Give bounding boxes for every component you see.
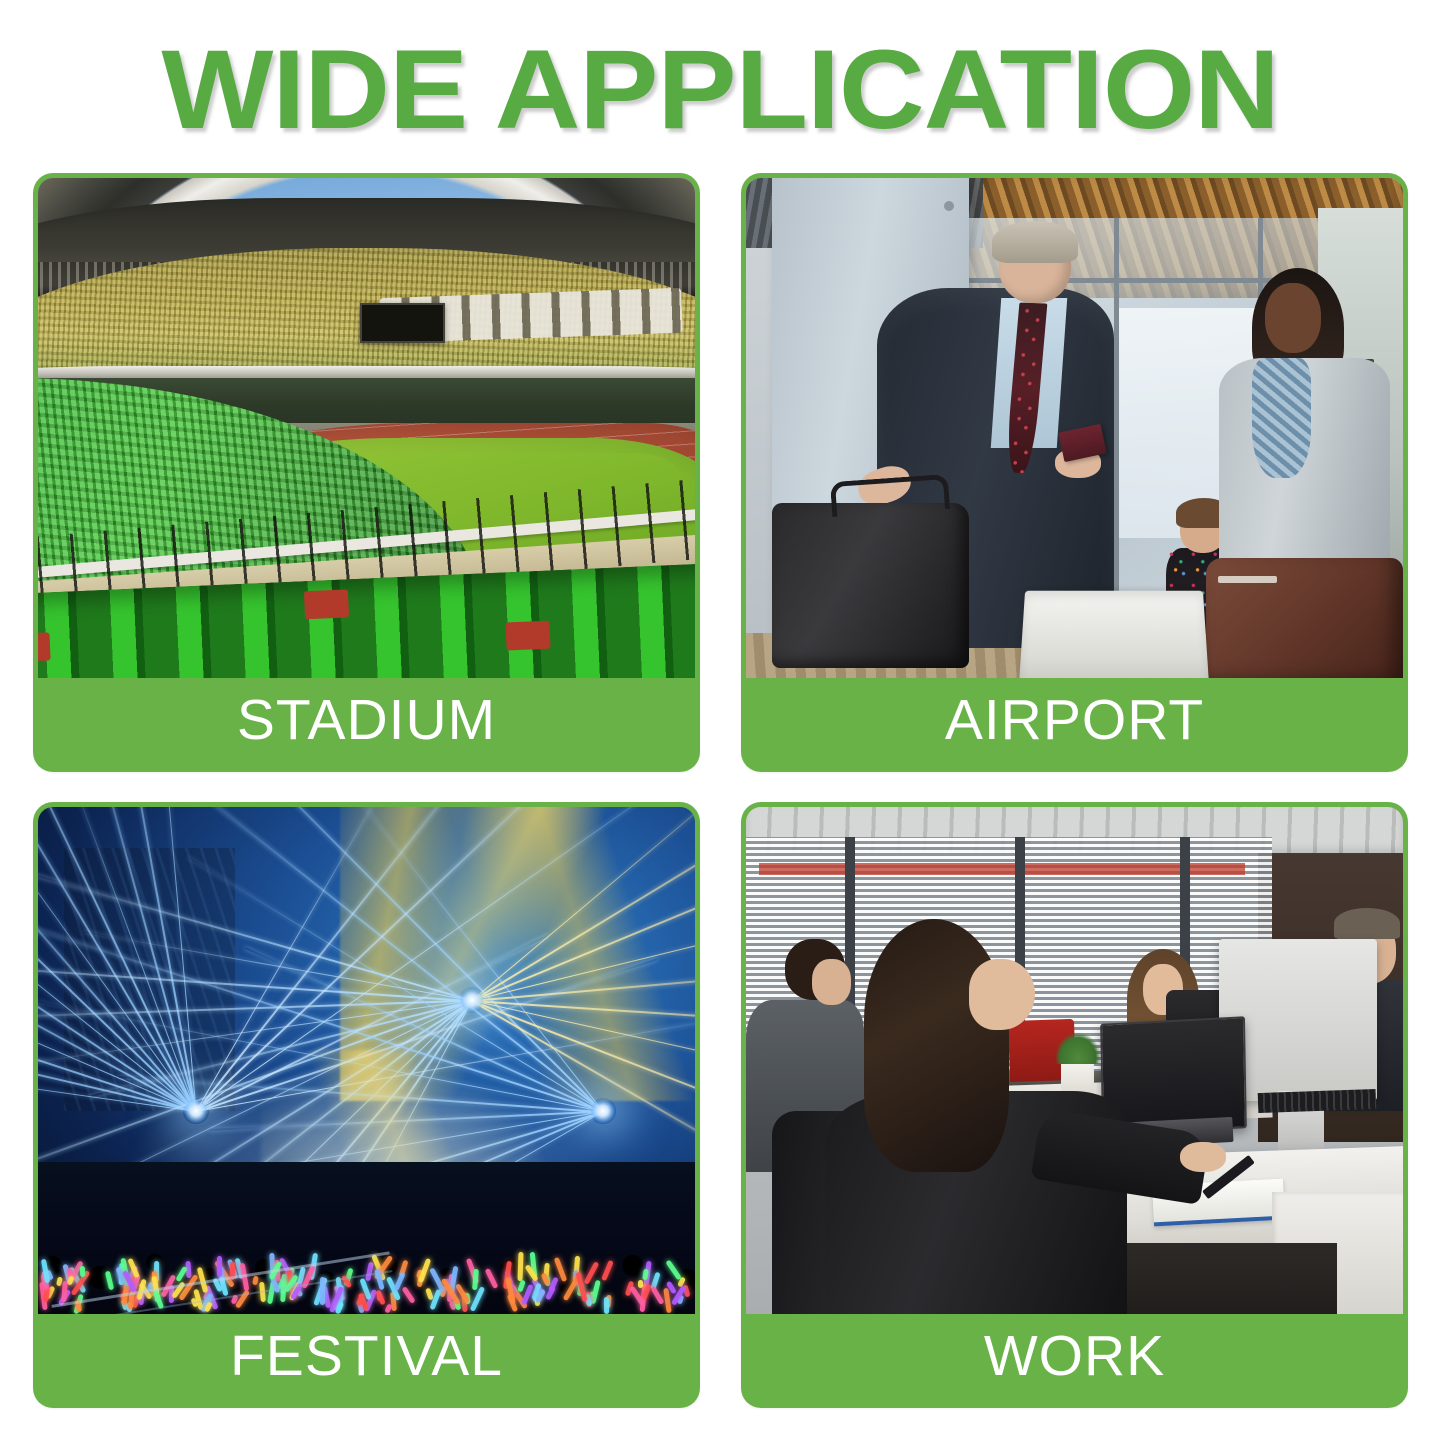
page-title-container: WIDE APPLICATION (0, 34, 1440, 146)
glow-stick (601, 1260, 614, 1281)
wide-application-infographic: WIDE APPLICATION (0, 0, 1440, 1440)
glow-stick (590, 1280, 601, 1304)
colleague-right-hair (1334, 908, 1400, 938)
airport-photo (746, 178, 1403, 678)
woman-face (1265, 283, 1321, 353)
application-card-festival[interactable]: FESTIVAL (33, 802, 700, 1408)
card-caption-airport: AIRPORT (746, 678, 1403, 767)
exterior-red-band (759, 863, 1245, 876)
work-photo (746, 807, 1403, 1314)
glow-stick (485, 1268, 499, 1289)
security-tray (1019, 591, 1210, 678)
card-caption-stadium: STADIUM (38, 678, 695, 767)
laser-source-right (590, 1098, 616, 1124)
foreground-woman-hand (1180, 1142, 1226, 1172)
keyboard (1258, 1089, 1377, 1113)
application-card-work[interactable]: WORK (741, 802, 1408, 1408)
application-card-stadium[interactable]: STADIUM (33, 173, 700, 772)
glow-stick (638, 1280, 643, 1288)
stadium-photo (38, 178, 695, 678)
glow-stick (470, 1286, 485, 1311)
glow-stick (401, 1286, 415, 1304)
glow-stick (517, 1252, 523, 1281)
brown-suitcase (1206, 558, 1403, 678)
page-title: WIDE APPLICATION (161, 34, 1278, 146)
glow-stick (105, 1270, 114, 1290)
glow-stick (665, 1259, 681, 1280)
laser-beam (93, 807, 197, 1112)
glow-stick (80, 1266, 85, 1277)
glow-stick (217, 1256, 222, 1277)
crowd-silhouette (38, 1162, 695, 1314)
foreground-woman-hair (864, 919, 1009, 1173)
glow-stick (517, 1280, 526, 1293)
application-card-airport[interactable]: AIRPORT (741, 173, 1408, 772)
application-card-grid: STADIUM (33, 173, 1408, 1408)
card-caption-festival: FESTIVAL (38, 1314, 695, 1403)
colleague-left-face (812, 959, 851, 1005)
festival-photo (38, 807, 695, 1314)
woman-scarf (1252, 358, 1311, 478)
card-caption-work: WORK (746, 1314, 1403, 1403)
glow-stick (650, 1286, 664, 1305)
glow-stick (604, 1296, 609, 1313)
laser-beam (38, 953, 472, 1002)
laser-source-left (183, 1098, 209, 1124)
man-hair (992, 221, 1077, 264)
glow-stick (375, 1289, 385, 1304)
carry-on-bag (772, 503, 969, 668)
laser-beam (471, 807, 695, 1001)
scoreboard-screen (360, 303, 445, 343)
laser-source-center (459, 987, 485, 1013)
